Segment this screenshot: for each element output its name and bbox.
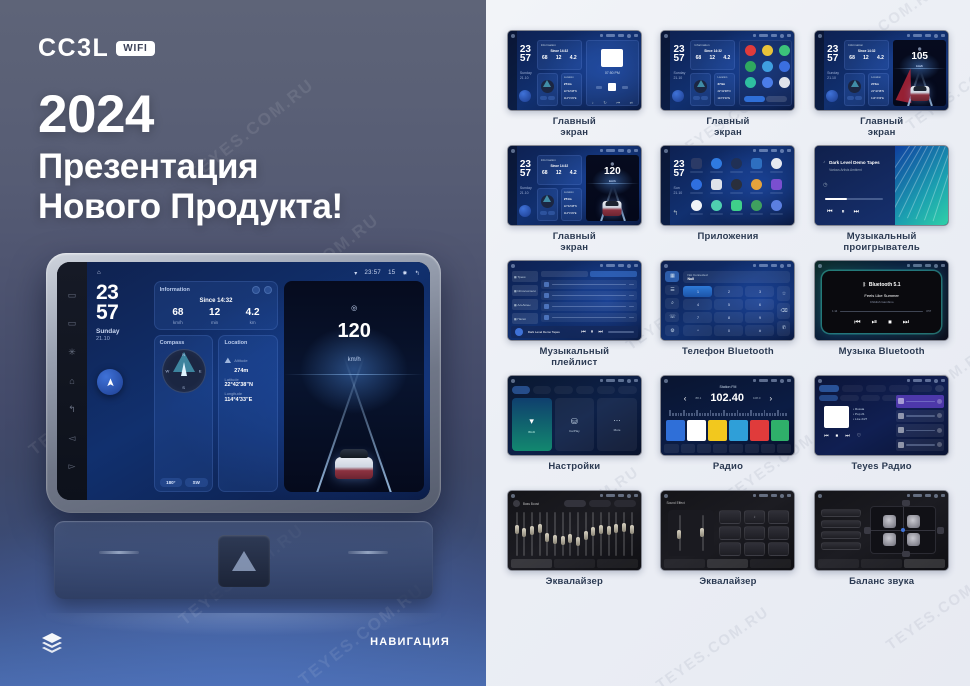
- app-icon[interactable]: [779, 45, 790, 56]
- screenshot-thumbnail-home-drive[interactable]: 2357 Sunday21.10 Information Since 14:32…: [814, 30, 949, 111]
- teyes-nav-tab[interactable]: [866, 385, 886, 392]
- tab-favorites[interactable]: [590, 271, 637, 277]
- app-icon[interactable]: [745, 45, 756, 56]
- balance-left-button[interactable]: [864, 527, 871, 534]
- playlist-nav-item[interactable]: ▦ Альбомы: [512, 299, 538, 310]
- location-card[interactable]: Location 274m 22°42'38"N 114°4'33"E: [868, 73, 889, 106]
- keypad-key[interactable]: 4: [683, 299, 712, 310]
- eq-preset-label: Bass Boost: [523, 502, 539, 506]
- previous-button[interactable]: ⏮: [581, 329, 586, 335]
- gallery-item: Sound Effect ♪ Эквалайзер: [654, 490, 803, 601]
- back-icon[interactable]: ↰: [415, 270, 420, 277]
- eq-preset-button[interactable]: [744, 526, 766, 540]
- eq-slider-knob[interactable]: [568, 534, 572, 543]
- speed-unit: km/h: [586, 179, 639, 183]
- watermark: TEYES.COM.RU: [653, 603, 772, 686]
- close-icon[interactable]: [935, 385, 944, 392]
- stop-button[interactable]: ⏹: [836, 433, 839, 439]
- gallery-item: Баланс звука: [807, 490, 956, 601]
- station-preset[interactable]: [729, 420, 748, 441]
- settings-tab[interactable]: [618, 386, 636, 394]
- location-card[interactable]: Location 274m 22°42'38"N 114°4'33"E: [561, 188, 582, 221]
- compass-needle-icon: [181, 362, 187, 376]
- filter-chip[interactable]: [861, 395, 880, 401]
- stat-item: 4.2 km: [246, 308, 260, 325]
- status-bar: [511, 148, 638, 153]
- eq-slider-knob[interactable]: [630, 525, 634, 534]
- presentation-slide: TEYES.COM.RU TEYES.COM.RU TEYES.COM.RU T…: [0, 0, 970, 686]
- keypad-key[interactable]: 6: [745, 299, 774, 310]
- longitude-label: Longitude: [224, 391, 272, 396]
- keypad-key[interactable]: 2: [714, 286, 743, 297]
- speed-value: 105: [893, 51, 946, 62]
- latitude-label: Latitude: [224, 377, 272, 382]
- car-model-icon: [603, 201, 622, 216]
- lower-widgets: Compass N S E W: [154, 335, 279, 492]
- eq-slider-knob[interactable]: [538, 524, 542, 533]
- keypad-key[interactable]: 9: [745, 312, 774, 323]
- longitude-row: Longitude 114°4'33"E: [224, 391, 272, 403]
- app-icon[interactable]: [745, 61, 756, 72]
- settings-tab[interactable]: [554, 386, 572, 394]
- eq-slider-knob[interactable]: [591, 527, 595, 536]
- app-icon[interactable]: [762, 77, 773, 88]
- longitude-value: 114°4'33"E: [224, 397, 272, 403]
- teyes-nav-tab[interactable]: [889, 385, 909, 392]
- speed-value: 120: [284, 321, 424, 341]
- altitude-value: 274m: [234, 368, 248, 374]
- next-button[interactable]: ⏭: [598, 329, 603, 335]
- app-icon[interactable]: [745, 77, 756, 88]
- location-card[interactable]: Location 274m 22°42'38"N 114°4'33"E: [714, 73, 735, 106]
- track-artist: Childish Gambino: [822, 300, 941, 304]
- refresh-icon[interactable]: [252, 286, 260, 294]
- phone-nav-item[interactable]: ⚙: [665, 325, 679, 336]
- phone-nav-item[interactable]: ☏: [665, 312, 679, 323]
- clock-widget: 2357: [520, 45, 531, 63]
- screenshot-grid: 2357 Sunday21.10 Information Since 14:32…: [500, 30, 956, 601]
- screenshot-thumbnail-radio[interactable]: Station FM ‹ 88.1 102.40 108.0 ›: [660, 375, 795, 456]
- clock-widget: 2357: [673, 45, 684, 63]
- home-screen-body: 23 57 Sunday 21.10: [93, 279, 424, 492]
- balance-preset-item[interactable]: [821, 509, 861, 517]
- product-logo: CC3L WIFI: [38, 34, 155, 63]
- media-widget[interactable]: 07:50 PM ♪↻⏮⏯: [586, 40, 639, 106]
- head-unit-bezel: ▭ ▭ ✳ ⌂ ↰ ◅ ▻ ⌂ ▾ 23:57: [46, 253, 441, 513]
- settings-tab[interactable]: [597, 386, 615, 394]
- dialed-number: Null: [687, 277, 786, 281]
- bt-version-badge: Bluetooth 5.1: [869, 282, 901, 288]
- screenshot-thumbnail-equalizer-bands[interactable]: Bass Boost: [507, 490, 642, 571]
- teyes-nav-tab[interactable]: [912, 385, 932, 392]
- eq-preset-button[interactable]: [719, 542, 741, 556]
- settings-tab[interactable]: [533, 386, 551, 394]
- clock-widget: 2357: [827, 45, 838, 63]
- settings-icon[interactable]: ✳: [67, 347, 78, 358]
- status-bar: [664, 263, 791, 268]
- balance-down-button[interactable]: [902, 551, 910, 557]
- playlist-nav-item[interactable]: ▦ Треки: [512, 271, 538, 282]
- app-icon[interactable]: [731, 200, 742, 211]
- head-unit-sidebar[interactable]: ▭ ▭ ✳ ⌂ ↰ ◅ ▻: [57, 262, 87, 500]
- teyes-nav-tab[interactable]: [819, 385, 839, 392]
- keypad-key[interactable]: 5: [714, 299, 743, 310]
- driving-view-panel[interactable]: ◎ 105 km/h: [893, 40, 946, 106]
- stat-value: 68: [172, 308, 183, 318]
- screenshot-thumbnail-bt-phone[interactable]: ▦☰⌕☏⚙ Not Connected Null 123456789*0# ☆⌫…: [660, 260, 795, 341]
- playlist-nav-item[interactable]: ▦ Папки: [512, 313, 538, 324]
- gallery-item: ▾ Wi-Fi ⛁ CarPlay ⋯ More Настройки: [500, 375, 649, 486]
- eq-slider-knob[interactable]: [515, 525, 519, 534]
- app-icon[interactable]: [771, 179, 782, 190]
- clock-date: Sunday21.10: [520, 186, 532, 197]
- phone-nav-item[interactable]: ▦: [665, 271, 679, 282]
- information-card[interactable]: Information Since 14:32 68124.2: [537, 40, 582, 70]
- track-row[interactable]: [541, 291, 637, 300]
- eq-slider-knob[interactable]: [545, 533, 549, 542]
- speaker-icon: [883, 515, 896, 528]
- clock-widget: 2357: [673, 160, 684, 178]
- app-icon[interactable]: [691, 158, 702, 169]
- track-row[interactable]: [541, 280, 637, 289]
- stat-value: 4.2: [246, 308, 260, 318]
- compass-card[interactable]: [537, 188, 558, 221]
- screenshot-caption: Эквалайзер: [699, 577, 756, 601]
- stat-item: 12 min: [209, 308, 220, 325]
- layers-icon: [40, 632, 64, 654]
- location-card[interactable]: Location ⛰ Altitude 274m: [218, 335, 278, 492]
- wifi-icon: ▾: [529, 416, 534, 427]
- headline-line-1: Презентация: [38, 147, 343, 187]
- back-icon[interactable]: ↰: [67, 404, 78, 415]
- audio-toolbar[interactable]: [818, 559, 945, 568]
- altitude-label: Altitude: [234, 358, 247, 363]
- more-settings-card[interactable]: ⋯ More: [597, 398, 637, 451]
- eq-preset-button[interactable]: [719, 510, 741, 524]
- speedometer-icon: ◎: [351, 304, 357, 312]
- eq-slider-knob[interactable]: [607, 526, 611, 535]
- tab-all[interactable]: [541, 271, 588, 277]
- keypad-key[interactable]: *: [683, 325, 712, 336]
- back-icon[interactable]: ↰: [672, 209, 678, 217]
- stat-unit: km: [246, 320, 260, 325]
- compass-card[interactable]: Compass N S E W: [154, 335, 214, 492]
- screenshot-thumbnail-home-apps[interactable]: 2357 Sunday21.10 Information Since 14:32…: [660, 30, 795, 111]
- speed-value: 120: [586, 166, 639, 177]
- eq-slider-knob[interactable]: [561, 536, 565, 545]
- teyes-nav-tab[interactable]: [842, 385, 862, 392]
- screenshot-caption: Музыкальныйплейлист: [539, 347, 609, 371]
- station-list-item[interactable]: [896, 410, 944, 423]
- compass-readouts: 180° SW: [160, 475, 208, 487]
- horizon-line: [284, 374, 424, 375]
- keypad-key[interactable]: 0: [714, 325, 743, 336]
- app-shortcuts-widget[interactable]: [739, 40, 792, 106]
- clock-date: 21.10: [96, 336, 149, 342]
- eq-reset-button[interactable]: [564, 500, 586, 507]
- screenshot-thumbnail-home-media[interactable]: 2357 Sunday21.10 Information Since 14:32…: [507, 30, 642, 111]
- compass-direction: SW: [185, 478, 207, 487]
- settings-tab[interactable]: [576, 386, 594, 394]
- balance-preset-item[interactable]: [821, 542, 861, 550]
- eject-icon[interactable]: ▭: [67, 318, 78, 329]
- balance-up-button[interactable]: [902, 500, 910, 506]
- track-artist: Various Artists Ambient: [829, 168, 862, 172]
- radio-band-label: Station FM: [661, 385, 794, 389]
- gallery-item: ᛒ Bluetooth 5.1 Feels Like Summer Childi…: [807, 260, 956, 371]
- speaker-icon: [907, 515, 920, 528]
- status-bar: [511, 33, 638, 38]
- information-card[interactable]: Information Since 14:32 68124.2: [690, 40, 735, 70]
- clock-date: Sunday21.10: [673, 71, 685, 82]
- screenshot-caption: Главныйэкран: [553, 117, 596, 141]
- information-card[interactable]: Information Since 14:32: [154, 281, 279, 330]
- status-bar: [664, 378, 791, 383]
- tuning-scale[interactable]: [669, 410, 786, 416]
- eq-save-button[interactable]: [589, 500, 611, 507]
- stat-value: 12: [209, 308, 220, 318]
- station-preset[interactable]: [771, 420, 790, 441]
- screenshot-thumbnail-home-speed[interactable]: 2357 Sunday21.10 Information Since 14:32…: [507, 145, 642, 226]
- album-art: [824, 406, 849, 428]
- app-icon[interactable]: [762, 61, 773, 72]
- status-bar: [818, 378, 945, 383]
- lyrics-icon[interactable]: ◷: [823, 182, 827, 188]
- eq-slider-knob[interactable]: [576, 537, 580, 546]
- clock-weekday: Sunday: [96, 328, 149, 335]
- logo-wifi-badge: WIFI: [116, 41, 154, 56]
- screenshot-thumbnail-music-player[interactable]: Dark Level Demo Tapes Various Artists Am…: [814, 145, 949, 226]
- play-pause-button[interactable]: ⏸: [842, 209, 845, 216]
- screenshot-thumbnail-sound-balance[interactable]: [814, 490, 949, 571]
- compass-card[interactable]: [537, 73, 558, 106]
- gallery-item: Dark Level Demo Tapes Various Artists Am…: [807, 145, 956, 256]
- gallery-item: 2357 Sunday21.10 Information Since 14:32…: [500, 30, 649, 141]
- status-bar: [818, 263, 945, 268]
- balance-right-button[interactable]: [937, 527, 944, 534]
- eq-preset-button[interactable]: [768, 542, 790, 556]
- navigation-arrow-icon[interactable]: [97, 369, 123, 395]
- app-icon[interactable]: [711, 179, 722, 190]
- audio-toolbar[interactable]: [511, 559, 638, 568]
- screenshot-caption: Приложения: [697, 232, 758, 256]
- compass-card[interactable]: [844, 73, 865, 106]
- eq-preset-button[interactable]: ♪: [744, 510, 766, 524]
- hero-panel: TEYES.COM.RU TEYES.COM.RU TEYES.COM.RU T…: [0, 0, 486, 686]
- track-row[interactable]: [541, 302, 637, 311]
- compass-west-label: W: [166, 369, 170, 374]
- information-since: Since 14:32: [160, 298, 273, 304]
- screenshot-thumbnail-bt-music[interactable]: ᛒ Bluetooth 5.1 Feels Like Summer Childi…: [814, 260, 949, 341]
- status-bar: [664, 33, 791, 38]
- hazard-light-button[interactable]: [218, 535, 270, 587]
- navigation-arrow-icon[interactable]: [519, 205, 531, 217]
- balance-preset-item[interactable]: [821, 520, 861, 528]
- play-pause-button[interactable]: ⏯: [872, 319, 878, 327]
- eq-band-sliders[interactable]: [515, 512, 634, 556]
- track-title: Dark Level Demo Tapes: [829, 160, 879, 165]
- compass-title: Compass: [160, 340, 208, 346]
- keypad-key[interactable]: 8: [714, 312, 743, 323]
- station-list-item[interactable]: [896, 439, 944, 452]
- station-preset[interactable]: [687, 420, 706, 441]
- previous-button[interactable]: ⏮: [854, 319, 860, 327]
- driving-view-panel[interactable]: ◎ 120 km/h: [586, 155, 639, 221]
- next-station-button[interactable]: ›: [769, 394, 772, 403]
- stat-item: 68 km/h: [172, 308, 183, 325]
- eq-section-title: Sound Effect: [666, 501, 684, 505]
- playlist-nav-item[interactable]: ▦ Исполнители: [512, 285, 538, 296]
- eq-slider-knob[interactable]: [553, 535, 557, 544]
- phone-action-button[interactable]: ⌫: [777, 303, 790, 318]
- speaker-icon: [907, 533, 920, 546]
- headline-block: 2024 Презентация Нового Продукта!: [38, 88, 343, 227]
- screenshot-thumbnail-settings[interactable]: ▾ Wi-Fi ⛁ CarPlay ⋯ More: [507, 375, 642, 456]
- navigation-label: НАВИГАЦИЯ: [370, 636, 450, 648]
- eq-preset-button[interactable]: [719, 526, 741, 540]
- power-icon[interactable]: ▭: [67, 290, 78, 301]
- eq-slider-knob[interactable]: [530, 526, 534, 535]
- track-title: Feels Like Summer: [822, 293, 941, 298]
- station-preset[interactable]: [666, 420, 685, 441]
- headline-line-2: Нового Продукта!: [38, 187, 343, 227]
- phone-nav-item[interactable]: ⌕: [665, 298, 679, 309]
- balance-preset-item[interactable]: [821, 531, 861, 539]
- eq-preset-button[interactable]: [768, 510, 790, 524]
- previous-button[interactable]: ⏮: [824, 433, 829, 439]
- status-bar: ⌂ ▾ 23:57 15 ✸ ↰: [93, 267, 424, 279]
- stop-button[interactable]: ⏹: [888, 319, 892, 327]
- status-bar: [818, 493, 945, 498]
- clock-date: Sunday21.10: [520, 71, 532, 82]
- previous-button[interactable]: ⏮: [827, 209, 832, 216]
- compass-card[interactable]: [690, 73, 711, 106]
- screenshot-caption: Эквалайзер: [546, 577, 603, 601]
- audio-toolbar[interactable]: [664, 559, 791, 568]
- radio-toolbar[interactable]: [664, 444, 791, 453]
- next-button[interactable]: ⏭: [854, 209, 859, 216]
- balance-pad[interactable]: [870, 506, 936, 554]
- clock-widget: 2357: [520, 160, 531, 178]
- altitude-row: ⛰ Altitude 274m: [224, 349, 272, 374]
- home-icon[interactable]: ⌂: [97, 270, 101, 276]
- screenshot-thumbnail-equalizer-presets[interactable]: Sound Effect ♪: [660, 490, 795, 571]
- app-icon[interactable]: [779, 77, 790, 88]
- keypad-key[interactable]: 7: [683, 312, 712, 323]
- filter-chip[interactable]: [819, 395, 838, 401]
- next-button[interactable]: ⏭: [845, 433, 850, 439]
- latitude-row: Latitude 22°42'38"N: [224, 377, 272, 389]
- volume-up-icon[interactable]: ▻: [67, 461, 78, 472]
- eq-slider-knob[interactable]: [599, 525, 603, 534]
- screenshot-thumbnail-music-playlist[interactable]: ▦ Треки▦ Исполнители▦ Альбомы▦ Папки: [507, 260, 642, 341]
- mountain-icon: ⛰: [224, 356, 231, 366]
- app-icon[interactable]: [762, 45, 773, 56]
- gallery-panel: TEYES.COM.RU TEYES.COM.RU TEYES.COM.RU T…: [486, 0, 970, 686]
- eq-preset-button[interactable]: [744, 542, 766, 556]
- gallery-item: 2357 Sunday21.10 Information Since 14:32…: [500, 145, 649, 256]
- carplay-settings-card[interactable]: ⛁ CarPlay: [555, 398, 595, 451]
- screenshot-thumbnail-apps-grid[interactable]: 2357 Sun21.10 ↰: [660, 145, 795, 226]
- favorite-icon[interactable]: ♡: [857, 433, 861, 439]
- balance-preset-list[interactable]: [821, 509, 861, 550]
- hazard-triangle-icon: [232, 551, 256, 571]
- speedometer-icon: ◎: [586, 161, 639, 166]
- information-card[interactable]: Information Since 14:32 68124.2: [844, 40, 889, 70]
- information-title: Information: [160, 287, 190, 293]
- track-row[interactable]: [541, 313, 637, 322]
- car-model-icon: [335, 449, 373, 479]
- driving-view-panel[interactable]: ◎ 120 km/h: [284, 281, 424, 492]
- station-list-item[interactable]: [896, 424, 944, 437]
- navigation-arrow-icon[interactable]: [519, 90, 531, 102]
- app-icon[interactable]: [779, 61, 790, 72]
- screenshot-caption: Музыка Bluetooth: [839, 347, 925, 371]
- gallery-item: 2357 Sunday21.10 Information Since 14:32…: [807, 30, 956, 141]
- screenshot-thumbnail-teyes-radio[interactable]: • Russia• Pop 21• Live 24/7 ⏮ ⏹ ⏭ ♡: [814, 375, 949, 456]
- keypad-key[interactable]: 1: [683, 286, 712, 297]
- home-left-column: 23 57 Sunday 21.10: [93, 281, 278, 492]
- eq-dual-slider-panel[interactable]: [668, 510, 714, 556]
- station-preset[interactable]: [750, 420, 769, 441]
- screenshot-caption: Главныйэкран: [553, 232, 596, 256]
- status-bar: [818, 33, 945, 38]
- app-icon[interactable]: [751, 158, 762, 169]
- stat-unit: min: [209, 320, 220, 325]
- phone-action-button[interactable]: ✆: [777, 321, 790, 336]
- eq-slider-knob[interactable]: [614, 524, 618, 533]
- gallery-item: ▦☰⌕☏⚙ Not Connected Null 123456789*0# ☆⌫…: [654, 260, 803, 371]
- eq-slider-knob[interactable]: [622, 523, 626, 532]
- filter-chip[interactable]: [840, 395, 859, 401]
- home-icon[interactable]: ⌂: [67, 376, 78, 387]
- eq-preset-button[interactable]: [768, 526, 790, 540]
- clock-widget[interactable]: 23 57 Sunday 21.10: [93, 281, 149, 492]
- play-pause-button[interactable]: ⏸: [591, 329, 594, 335]
- volume-down-icon[interactable]: ◅: [67, 433, 78, 444]
- eq-load-button[interactable]: [614, 500, 636, 507]
- screenshot-caption: Главныйэкран: [706, 117, 749, 141]
- eq-slider-knob[interactable]: [584, 531, 588, 540]
- station-preset[interactable]: [708, 420, 727, 441]
- speed-unit: km/h: [893, 64, 946, 68]
- wifi-settings-card[interactable]: ▾ Wi-Fi: [512, 398, 552, 451]
- vent-slit-right: [348, 551, 388, 554]
- keypad-key[interactable]: 3: [745, 286, 774, 297]
- gallery-item: 2357 Sunday21.10 Information Since 14:32…: [654, 30, 803, 141]
- station-list-item[interactable]: [896, 395, 944, 408]
- eq-slider-knob[interactable]: [700, 528, 704, 537]
- car-icon: ⛁: [571, 417, 578, 426]
- eq-slider-knob[interactable]: [522, 528, 526, 537]
- information-card[interactable]: Information Since 14:32 68124.2: [537, 155, 582, 185]
- location-card[interactable]: Location 274m 22°42'38"N 114°4'33"E: [561, 73, 582, 106]
- previous-station-button[interactable]: ‹: [684, 394, 687, 403]
- next-button[interactable]: ⏭: [903, 319, 909, 327]
- logo-model-text: CC3L: [38, 34, 109, 63]
- gallery-item: • Russia• Pop 21• Live 24/7 ⏮ ⏹ ⏭ ♡: [807, 375, 956, 486]
- gallery-item: 2357 Sun21.10 ↰ Приложения: [654, 145, 803, 256]
- phone-action-button[interactable]: ☆: [777, 286, 790, 301]
- reset-icon[interactable]: [264, 286, 272, 294]
- gear-icon[interactable]: ✸: [402, 270, 407, 277]
- latitude-value: 22°42'38"N: [224, 382, 272, 388]
- clock-minutes: 57: [96, 303, 149, 323]
- phone-nav-item[interactable]: ☰: [665, 285, 679, 296]
- screenshot-caption: Главныйэкран: [860, 117, 903, 141]
- settings-tab[interactable]: [512, 386, 530, 394]
- keypad-key[interactable]: #: [745, 325, 774, 336]
